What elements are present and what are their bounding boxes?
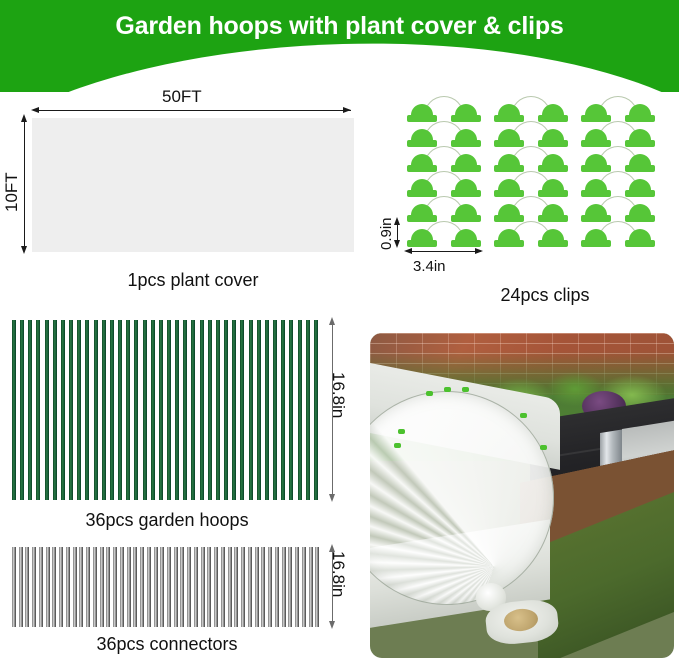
clip-item [407,96,481,122]
connector-bar [268,547,272,627]
garden-hoop-rod [265,320,269,500]
height-dimension-line [24,120,25,250]
clip-item [494,171,568,197]
connector-bar [100,547,104,627]
clip-foot-right [538,104,568,122]
garden-hoop-rod [69,320,73,500]
connector-bar [194,547,198,627]
photo-clip-icon-1 [426,391,433,396]
clip-foot-right [625,104,655,122]
connector-bar [73,547,77,627]
connector-bar [174,547,178,627]
clip-foot-left [407,154,437,172]
header-banner: Garden hoops with plant cover & clips [0,0,679,92]
garden-hoop-rod [61,320,65,500]
garden-hoop-rod [36,320,40,500]
clip-foot-left [494,179,524,197]
product-infographic: Garden hoops with plant cover & clips 50… [0,0,679,664]
width-dimension-line [38,110,351,111]
clip-foot-right [625,229,655,247]
connector-bar [288,547,292,627]
clip-column [581,96,655,248]
connector-bar [228,547,232,627]
clip-foot-base [451,240,481,247]
garden-hoop-rod [110,320,114,500]
connector-bar [127,547,131,627]
garden-hoop-rod [281,320,285,500]
clip-foot-right [538,154,568,172]
clips-grid [407,96,652,248]
connectors-bars [12,547,322,627]
photo-clip-icon-7 [394,443,401,448]
garden-hoop-rod [298,320,302,500]
connector-bar [12,547,16,627]
width-dimension-label: 50FT [162,87,202,107]
connector-bar [261,547,265,627]
connector-bar [106,547,110,627]
garden-hoop-rod [208,320,212,500]
clip-foot-left [407,204,437,222]
garden-hoop-rod [143,320,147,500]
clip-foot-right [538,129,568,147]
photo-clip-icon-6 [398,429,405,434]
clip-foot-base [538,240,568,247]
clip-foot-right [538,179,568,197]
clip-width-arrow-right-icon [475,248,483,254]
clip-foot-right [451,179,481,197]
clip-item [581,121,655,147]
clip-foot-right [451,154,481,172]
height-arrow-down-icon [21,246,27,254]
width-arrow-left-icon [31,107,39,113]
hoops-arrow-down-icon [329,494,335,502]
connector-bar [167,547,171,627]
garden-hoop-rod [216,320,220,500]
garden-hoop-rod [151,320,155,500]
clip-foot-left [494,204,524,222]
connectors-arrow-down-icon [329,621,335,629]
clip-column [407,96,481,248]
garden-hoop-rod [94,320,98,500]
connector-bar [93,547,97,627]
garden-hoop-rod [273,320,277,500]
garden-hoop-rod [45,320,49,500]
garden-hoop-rod [289,320,293,500]
clip-foot-right [538,229,568,247]
clip-foot-left [407,129,437,147]
clip-foot-left [581,129,611,147]
clip-foot-left [494,129,524,147]
clip-foot-left [407,104,437,122]
connector-bar [255,547,259,627]
photo-clip-icon-3 [462,387,469,392]
clip-width-arrow-left-icon [404,248,412,254]
plant-cover-caption: 1pcs plant cover [32,270,354,291]
width-arrow-right-icon [343,107,351,113]
plant-cover-swatch [32,118,354,252]
garden-hoops-rods [12,320,322,500]
clip-foot-left [407,229,437,247]
connector-bar [46,547,50,627]
clip-foot-base [494,240,524,247]
clip-item [407,171,481,197]
garden-hoop-rod [28,320,32,500]
connectors-length-dimension-label: 16.8in [328,551,348,597]
clips-caption: 24pcs clips [430,285,660,306]
clip-item [407,121,481,147]
garden-hoop-rod [159,320,163,500]
clip-foot-right [538,204,568,222]
clip-width-dimension-line [409,251,481,252]
garden-hoop-rod [175,320,179,500]
clip-item [581,196,655,222]
connector-bar [302,547,306,627]
clip-item [494,96,568,122]
page-title: Garden hoops with plant cover & clips [0,12,679,41]
hoops-arrow-up-icon [329,317,335,325]
connector-bar [295,547,299,627]
clip-foot-right [451,104,481,122]
clip-item [494,121,568,147]
clip-foot-left [494,104,524,122]
hoops-length-dimension-label: 16.8in [328,372,348,418]
garden-hoop-rod [240,320,244,500]
connector-bar [221,547,225,627]
clip-item [494,221,568,247]
garden-hoop-rod [167,320,171,500]
connector-bar [133,547,137,627]
connector-bar [207,547,211,627]
garden-hoop-rod [183,320,187,500]
connector-bar [282,547,286,627]
clip-item [581,171,655,197]
clip-foot-left [581,229,611,247]
product-photo [370,333,674,658]
connector-bar [140,547,144,627]
clip-column [494,96,568,248]
clip-item [494,146,568,172]
connector-bar [86,547,90,627]
garden-hoop-rod [20,320,24,500]
garden-hoop-rod [200,320,204,500]
clip-foot-right [625,154,655,172]
connector-bar [241,547,245,627]
garden-hoop-rod [257,320,261,500]
garden-hoop-rod [77,320,81,500]
garden-hoop-rod [85,320,89,500]
connector-bar [214,547,218,627]
clip-item [407,221,481,247]
height-dimension-label: 10FT [2,172,22,212]
garden-hoop-rod [224,320,228,500]
garden-hoop-rod [126,320,130,500]
connector-bar [201,547,205,627]
clip-item [581,96,655,122]
clip-foot-left [581,154,611,172]
clip-foot-right [625,204,655,222]
clip-item [407,196,481,222]
clip-foot-left [494,229,524,247]
garden-hoop-rod [12,320,16,500]
connector-bar [275,547,279,627]
connector-bar [25,547,29,627]
clip-foot-base [407,240,437,247]
clip-item [407,146,481,172]
connector-bar [147,547,151,627]
garden-hoop-rod [191,320,195,500]
garden-hoop-rod [53,320,57,500]
clip-foot-right [625,129,655,147]
clip-item [494,196,568,222]
garden-hoop-rod [249,320,253,500]
connectors-caption: 36pcs connectors [12,634,322,655]
connector-bar [248,547,252,627]
connector-bar [52,547,56,627]
clip-foot-left [407,179,437,197]
garden-hoop-rod [102,320,106,500]
connector-bar [32,547,36,627]
connector-bar [79,547,83,627]
connector-bar [187,547,191,627]
garden-hoop-rod [306,320,310,500]
connector-bar [59,547,63,627]
garden-hoop-rod [232,320,236,500]
connector-bar [66,547,70,627]
height-arrow-up-icon [21,114,27,122]
clip-item [581,146,655,172]
photo-clip-icon-4 [520,413,527,418]
connector-bar [39,547,43,627]
connector-bar [154,547,158,627]
garden-hoop-rod [314,320,318,500]
connector-bar [180,547,184,627]
garden-hoop-rod [134,320,138,500]
clip-width-dimension-label: 3.4in [413,258,446,275]
clip-item [581,221,655,247]
photo-clip-icon-5 [540,445,547,450]
clip-foot-base [581,240,611,247]
connector-bar [234,547,238,627]
clip-foot-left [581,179,611,197]
clip-height-dimension-label: 0.9in [378,217,395,250]
clip-foot-left [494,154,524,172]
connector-bar [19,547,23,627]
garden-hoops-caption: 36pcs garden hoops [12,510,322,531]
connector-bar [309,547,313,627]
photo-clip-icon-2 [444,387,451,392]
connector-bar [315,547,319,627]
clip-foot-right [451,129,481,147]
clip-foot-left [581,104,611,122]
garden-hoop-rod [118,320,122,500]
connector-bar [160,547,164,627]
clip-foot-right [625,179,655,197]
clip-foot-right [451,204,481,222]
connector-bar [120,547,124,627]
connector-bar [113,547,117,627]
clip-foot-right [451,229,481,247]
clip-foot-left [581,204,611,222]
clip-foot-base [625,240,655,247]
